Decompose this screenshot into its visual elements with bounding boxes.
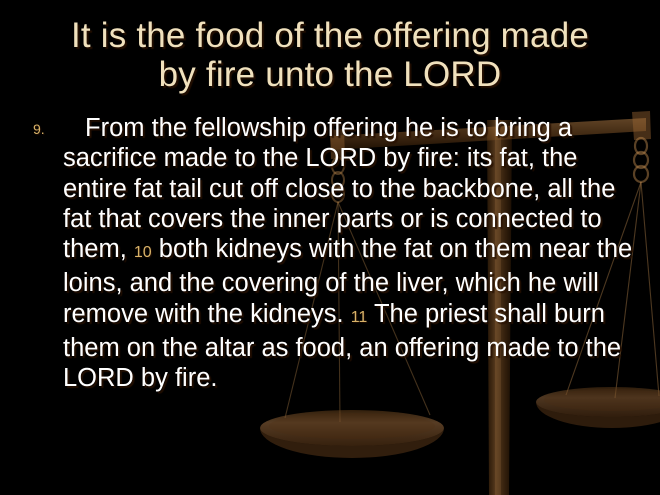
left-scale-pan	[260, 410, 444, 458]
bullet-number: 9.	[33, 113, 63, 136]
slide-title: It is the food of the offering made by f…	[22, 16, 638, 94]
body-bullet-row: 9. From the fellowship offering he is to…	[33, 113, 633, 394]
verse-number-11: 11	[351, 309, 368, 326]
slide-canvas: It is the food of the offering made by f…	[0, 0, 660, 495]
body-paragraph: From the fellowship offering he is to br…	[63, 113, 633, 394]
verse-number-10: 10	[134, 244, 152, 261]
title-line-2: by fire unto the LORD	[22, 55, 638, 94]
slide-body: 9. From the fellowship offering he is to…	[33, 113, 633, 394]
right-hanger-rings	[634, 138, 648, 182]
title-line-1: It is the food of the offering made	[22, 16, 638, 55]
